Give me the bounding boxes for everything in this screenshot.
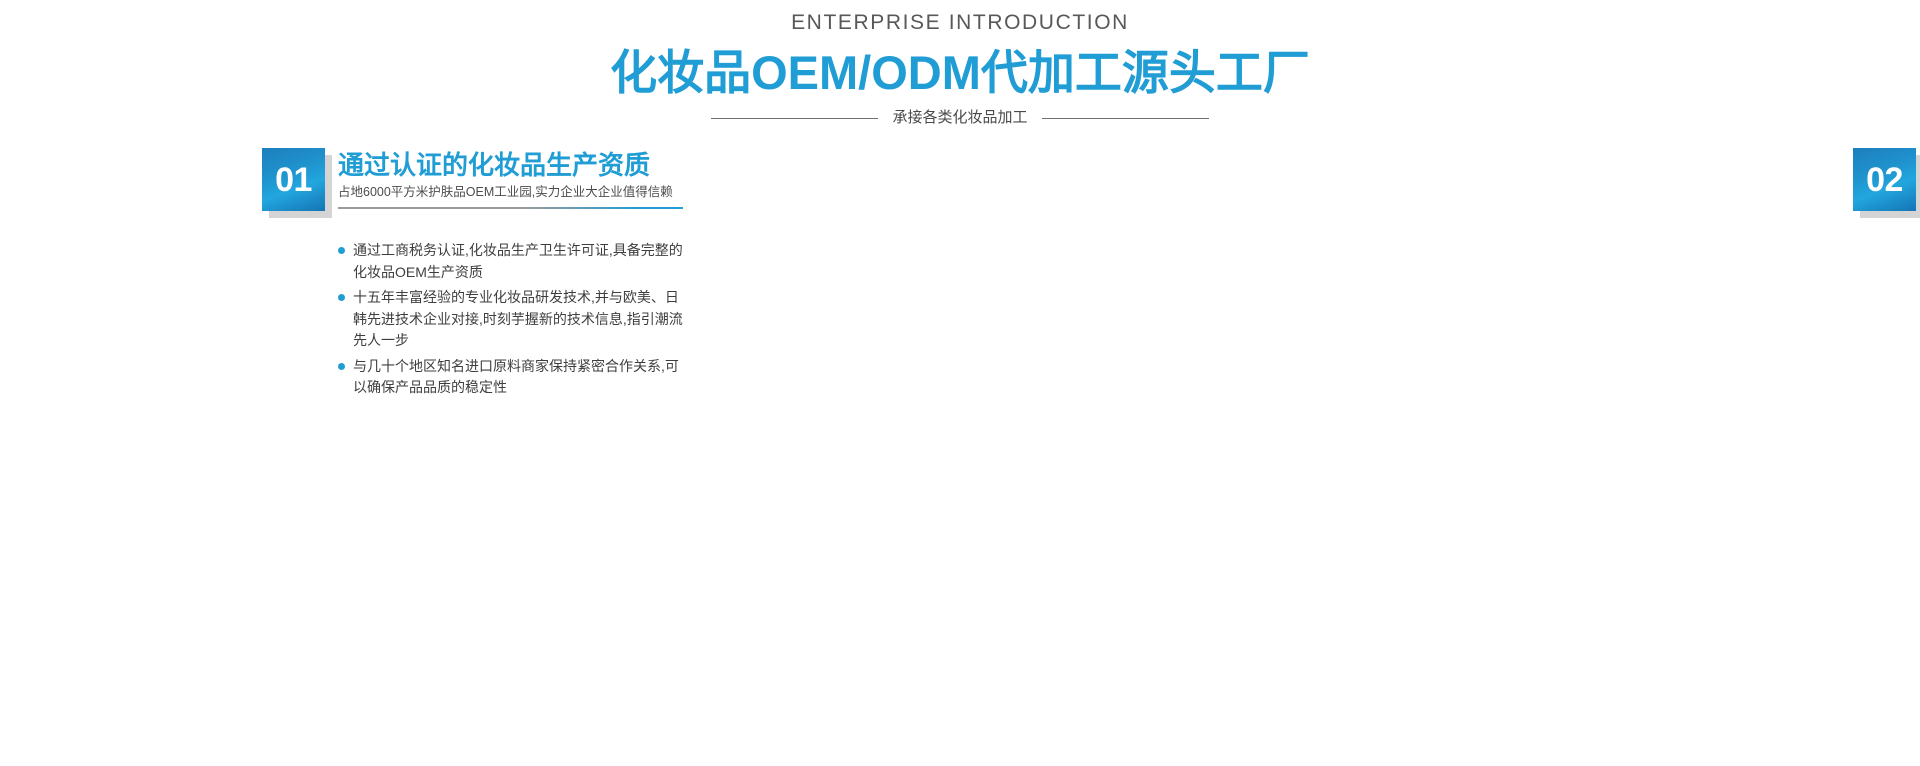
list-item: 通过工商税务认证,化妆品生产卫生许可证,具备完整的化妆品OEM生产资质 <box>338 240 960 283</box>
card-header-text: 通过认证的化妆品生产资质 占地6000平方米护肤品OEM工业园,实力企业大企业值… <box>338 148 683 209</box>
badge-square: 01 <box>262 148 325 211</box>
list-item: 十五年丰富经验的专业化妆品研发技术,并与欧美、日韩先进技术企业对接,时刻芋握新的… <box>338 287 960 352</box>
feature-cell-02: 02 产品与市场借鉴 占地6000平方米护肤品OEM工业园,实力企业大企业值得信… <box>960 148 1920 766</box>
feature-row-1: 01 通过认证的化妆品生产资质 占地6000平方米护肤品OEM工业园,实力企业大… <box>0 148 1920 766</box>
badge-number: 01 <box>275 163 312 197</box>
card-rule <box>338 207 683 209</box>
feature-grid: 01 通过认证的化妆品生产资质 占地6000平方米护肤品OEM工业园,实力企业大… <box>0 148 1920 766</box>
bullet-text: 通过工商税务认证,化妆品生产卫生许可证,具备完整的化妆品OEM生产资质 <box>353 240 689 283</box>
badge-square: 02 <box>1853 148 1916 211</box>
bullet-dot-icon <box>338 247 345 254</box>
page-header: ENTERPRISE INTRODUCTION 化妆品OEM/ODM代加工源头工… <box>0 0 1920 128</box>
enterprise-introduction-page: ENTERPRISE INTRODUCTION 化妆品OEM/ODM代加工源头工… <box>0 0 1920 766</box>
page-subtitle-row: 承接各类化妆品加工 <box>0 108 1920 128</box>
bullet-text: 十五年丰富经验的专业化妆品研发技术,并与欧美、日韩先进技术企业对接,时刻芋握新的… <box>353 287 689 352</box>
bullet-text: 与几十个地区知名进口原料商家保持紧密合作关系,可以确保产品品质的稳定性 <box>353 356 689 399</box>
card-header: 02 产品与市场借鉴 占地6000平方米护肤品OEM工业园,实力企业大企业值得信… <box>1853 148 1920 218</box>
divider-line-left <box>711 118 878 119</box>
card-subtitle: 占地6000平方米护肤品OEM工业园,实力企业大企业值得信赖 <box>338 184 683 201</box>
card-bullet-list: 通过工商税务认证,化妆品生产卫生许可证,具备完整的化妆品OEM生产资质 十五年丰… <box>338 240 960 399</box>
feature-card-01: 01 通过认证的化妆品生产资质 占地6000平方米护肤品OEM工业园,实力企业大… <box>262 148 960 399</box>
card-title: 通过认证的化妆品生产资质 <box>338 150 683 181</box>
number-badge: 01 <box>262 148 332 218</box>
page-title: 化妆品OEM/ODM代加工源头工厂 <box>0 45 1920 101</box>
number-badge: 02 <box>1853 148 1920 218</box>
bullet-dot-icon <box>338 363 345 370</box>
page-eyebrow: ENTERPRISE INTRODUCTION <box>0 10 1920 36</box>
feature-card-02: 02 产品与市场借鉴 占地6000平方米护肤品OEM工业园,实力企业大企业值得信… <box>1853 148 1920 766</box>
card-header: 01 通过认证的化妆品生产资质 占地6000平方米护肤品OEM工业园,实力企业大… <box>262 148 960 218</box>
badge-number: 02 <box>1866 163 1903 197</box>
bullet-dot-icon <box>338 294 345 301</box>
page-subtitle: 承接各类化妆品加工 <box>892 108 1027 128</box>
divider-line-right <box>1042 118 1209 119</box>
list-item: 与几十个地区知名进口原料商家保持紧密合作关系,可以确保产品品质的稳定性 <box>338 356 960 399</box>
feature-cell-01: 01 通过认证的化妆品生产资质 占地6000平方米护肤品OEM工业园,实力企业大… <box>0 148 960 766</box>
